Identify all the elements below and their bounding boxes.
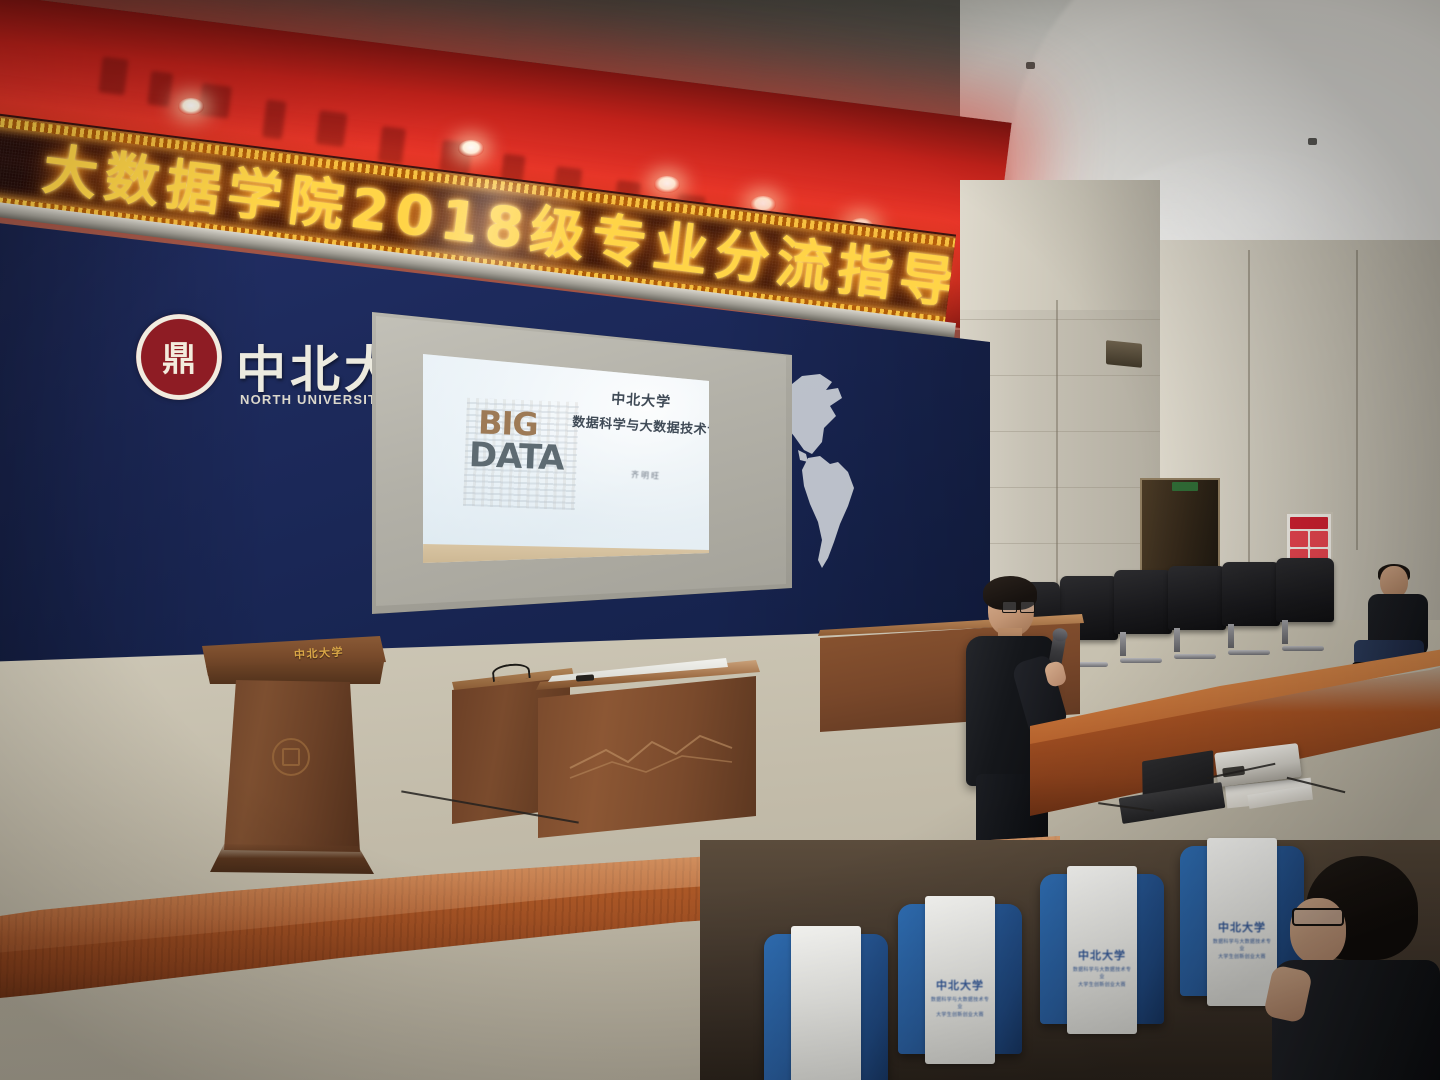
seat-headrest-cover: 中北大学 数据科学与大数据技术专业 大学生创新创业大赛 bbox=[1067, 866, 1136, 1034]
seat-cover-line2: 数据科学与大数据技术专业 bbox=[929, 996, 990, 1010]
mountain-wave-carving bbox=[566, 728, 736, 784]
ceiling-spotlight bbox=[654, 176, 680, 193]
university-seal-emblem-icon bbox=[272, 738, 310, 776]
audience-seat[interactable]: 中北大学 数据科学与大数据技术专业 大学生创新创业大赛 bbox=[1040, 874, 1164, 1024]
chair[interactable] bbox=[1222, 562, 1280, 626]
chair[interactable] bbox=[1168, 566, 1226, 630]
seat-cover-line2: 数据科学与大数据技术专业 bbox=[1071, 966, 1132, 980]
glasses-icon bbox=[1292, 908, 1344, 926]
slide-title-block: 中北大学 数据科学与大数据技术专业 bbox=[572, 386, 709, 438]
audience-member-person bbox=[1262, 856, 1440, 1080]
big-data-wordcloud-image: BIG DATA bbox=[463, 398, 579, 510]
seat-cover-line3: 大学生创新创业大赛 bbox=[1071, 981, 1132, 988]
poster-icon-cell bbox=[1310, 531, 1328, 547]
chair-leg bbox=[1282, 646, 1324, 651]
poster-header-icon bbox=[1290, 517, 1328, 529]
wall-speaker bbox=[1106, 340, 1142, 368]
wordcloud-data-text: DATA bbox=[468, 440, 564, 475]
auditorium-scene: 大数据学院2018级专业分流指导 鼎 中北大学 NORTH UNIVERSITY… bbox=[0, 0, 1440, 1080]
wall-panel-upper bbox=[960, 180, 1160, 310]
seat-headrest-cover: 中北大学 数据科学与大数据技术专业 大学生创新创业大赛 bbox=[925, 896, 994, 1064]
wall-seam bbox=[1248, 250, 1250, 580]
chair[interactable] bbox=[1276, 558, 1334, 622]
chair-leg bbox=[1120, 658, 1162, 663]
audience-seat[interactable]: 中北大学 数据科学与大数据技术专业 大学生创新创业大赛 bbox=[898, 904, 1022, 1054]
ceiling-vent-icon bbox=[1026, 62, 1035, 69]
seat-cover-line1: 中北大学 bbox=[929, 977, 990, 993]
wall-seam bbox=[1356, 250, 1358, 550]
ceiling-spotlight bbox=[178, 98, 204, 115]
chair-leg bbox=[1174, 654, 1216, 659]
seat-cover-print: 中北大学 数据科学与大数据技术专业 大学生创新创业大赛 bbox=[929, 977, 990, 1018]
seat-headrest-cover bbox=[791, 926, 860, 1080]
chair[interactable] bbox=[1114, 570, 1172, 634]
ceiling-spotlight bbox=[458, 140, 484, 157]
seat-cover-line1: 中北大学 bbox=[1071, 947, 1132, 963]
desk-microphone-icon bbox=[576, 674, 594, 681]
exit-sign bbox=[1172, 482, 1198, 491]
presentation-slide: BIG DATA 中北大学 数据科学与大数据技术专业 齐明旺 bbox=[423, 348, 709, 563]
audience-seat[interactable] bbox=[764, 934, 888, 1080]
ceiling-vent-icon bbox=[1308, 138, 1317, 145]
seat-cover-line3: 大学生创新创业大赛 bbox=[929, 1011, 990, 1018]
university-seal-icon: 鼎 bbox=[136, 314, 222, 400]
seal-glyph: 鼎 bbox=[162, 332, 196, 381]
podium: 中北大学 bbox=[196, 636, 386, 882]
poster-icon-cell bbox=[1290, 531, 1308, 547]
podium-engraved-text: 中北大学 bbox=[294, 644, 345, 663]
glasses-icon bbox=[1002, 601, 1034, 611]
seat-cover-print: 中北大学 数据科学与大数据技术专业 大学生创新创业大赛 bbox=[1071, 947, 1132, 988]
podium-base bbox=[208, 844, 374, 880]
chair-leg bbox=[1228, 650, 1270, 655]
wall-seam bbox=[1056, 300, 1058, 600]
